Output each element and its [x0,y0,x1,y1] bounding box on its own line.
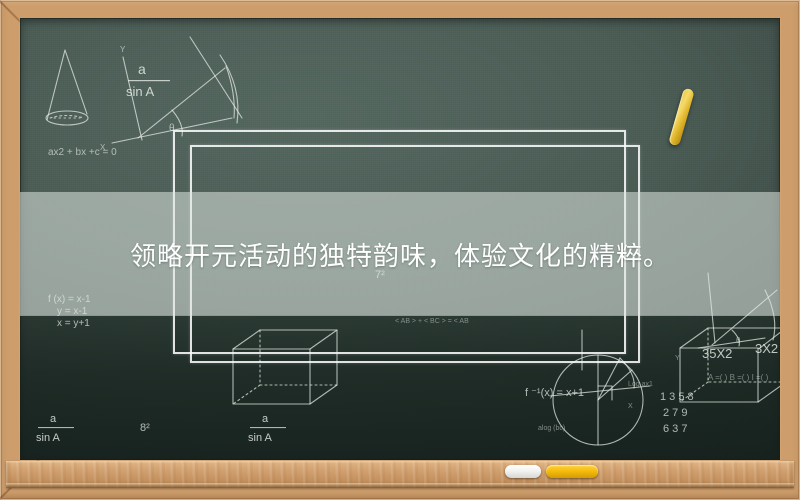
chalk-inverse-function: f ⁻¹(x) = x+1 [525,387,584,399]
chalk-fx-line3: x = y+1 [57,318,90,329]
chalk-digits-row2: 2 7 9 [663,407,687,419]
chalk-axis-x-label: X [100,143,106,152]
chalk-ledge-lip [6,483,794,488]
chalk-fraction-denominator: sin A [126,84,155,99]
chalk-fraction2-denominator: sin A [36,432,61,444]
board-shadow-band [20,315,780,460]
chalk-axis-y-label-right: Y [675,355,680,362]
chalk-matrix-note: A =( ) B =( ) I =( ) [708,373,769,382]
chalk-label-35x2: 35X2 [702,346,732,361]
chalk-angle-label-right: θ [736,336,741,345]
chalk-axis-x-label-right: X [628,403,633,410]
chalk-quadratic: ax2 + bx +c = 0 [48,147,117,158]
chalk-axis-y-label: Y [120,45,126,54]
chalkboard-banner: a sin A Y X θ ax2 + bx +c = 0 θ f (x) = … [0,0,800,500]
chalk-fraction2-numerator: a [50,413,57,425]
chalk-exponent-b: 8² [140,422,150,434]
chalk-fraction3-numerator: a [262,413,269,425]
chalk-digits-row1: 1 3 5 8 [660,391,694,403]
white-chalk-stick [505,465,541,478]
chalk-vector-note: < AB > + < BC > = < AB [395,318,469,325]
chalk-log-label: Log ax1 [628,381,653,388]
chalk-fraction-numerator: a [138,61,146,77]
chalkboard-surface: a sin A Y X θ ax2 + bx +c = 0 θ f (x) = … [20,18,780,460]
chalk-label-3x2: 3X2 [755,341,778,356]
chalk-ledge [6,461,794,488]
caption-text: 领略开元活动的独特韵味，体验文化的精粹。 [20,192,780,316]
yellow-chalk-stick [546,465,598,478]
chalk-angle-label: θ [169,123,175,134]
chalk-digits-row3: 6 3 7 [663,423,687,435]
chalk-fraction3-denominator: sin A [248,432,273,444]
chalk-log-note: alog (bc) [538,425,565,432]
